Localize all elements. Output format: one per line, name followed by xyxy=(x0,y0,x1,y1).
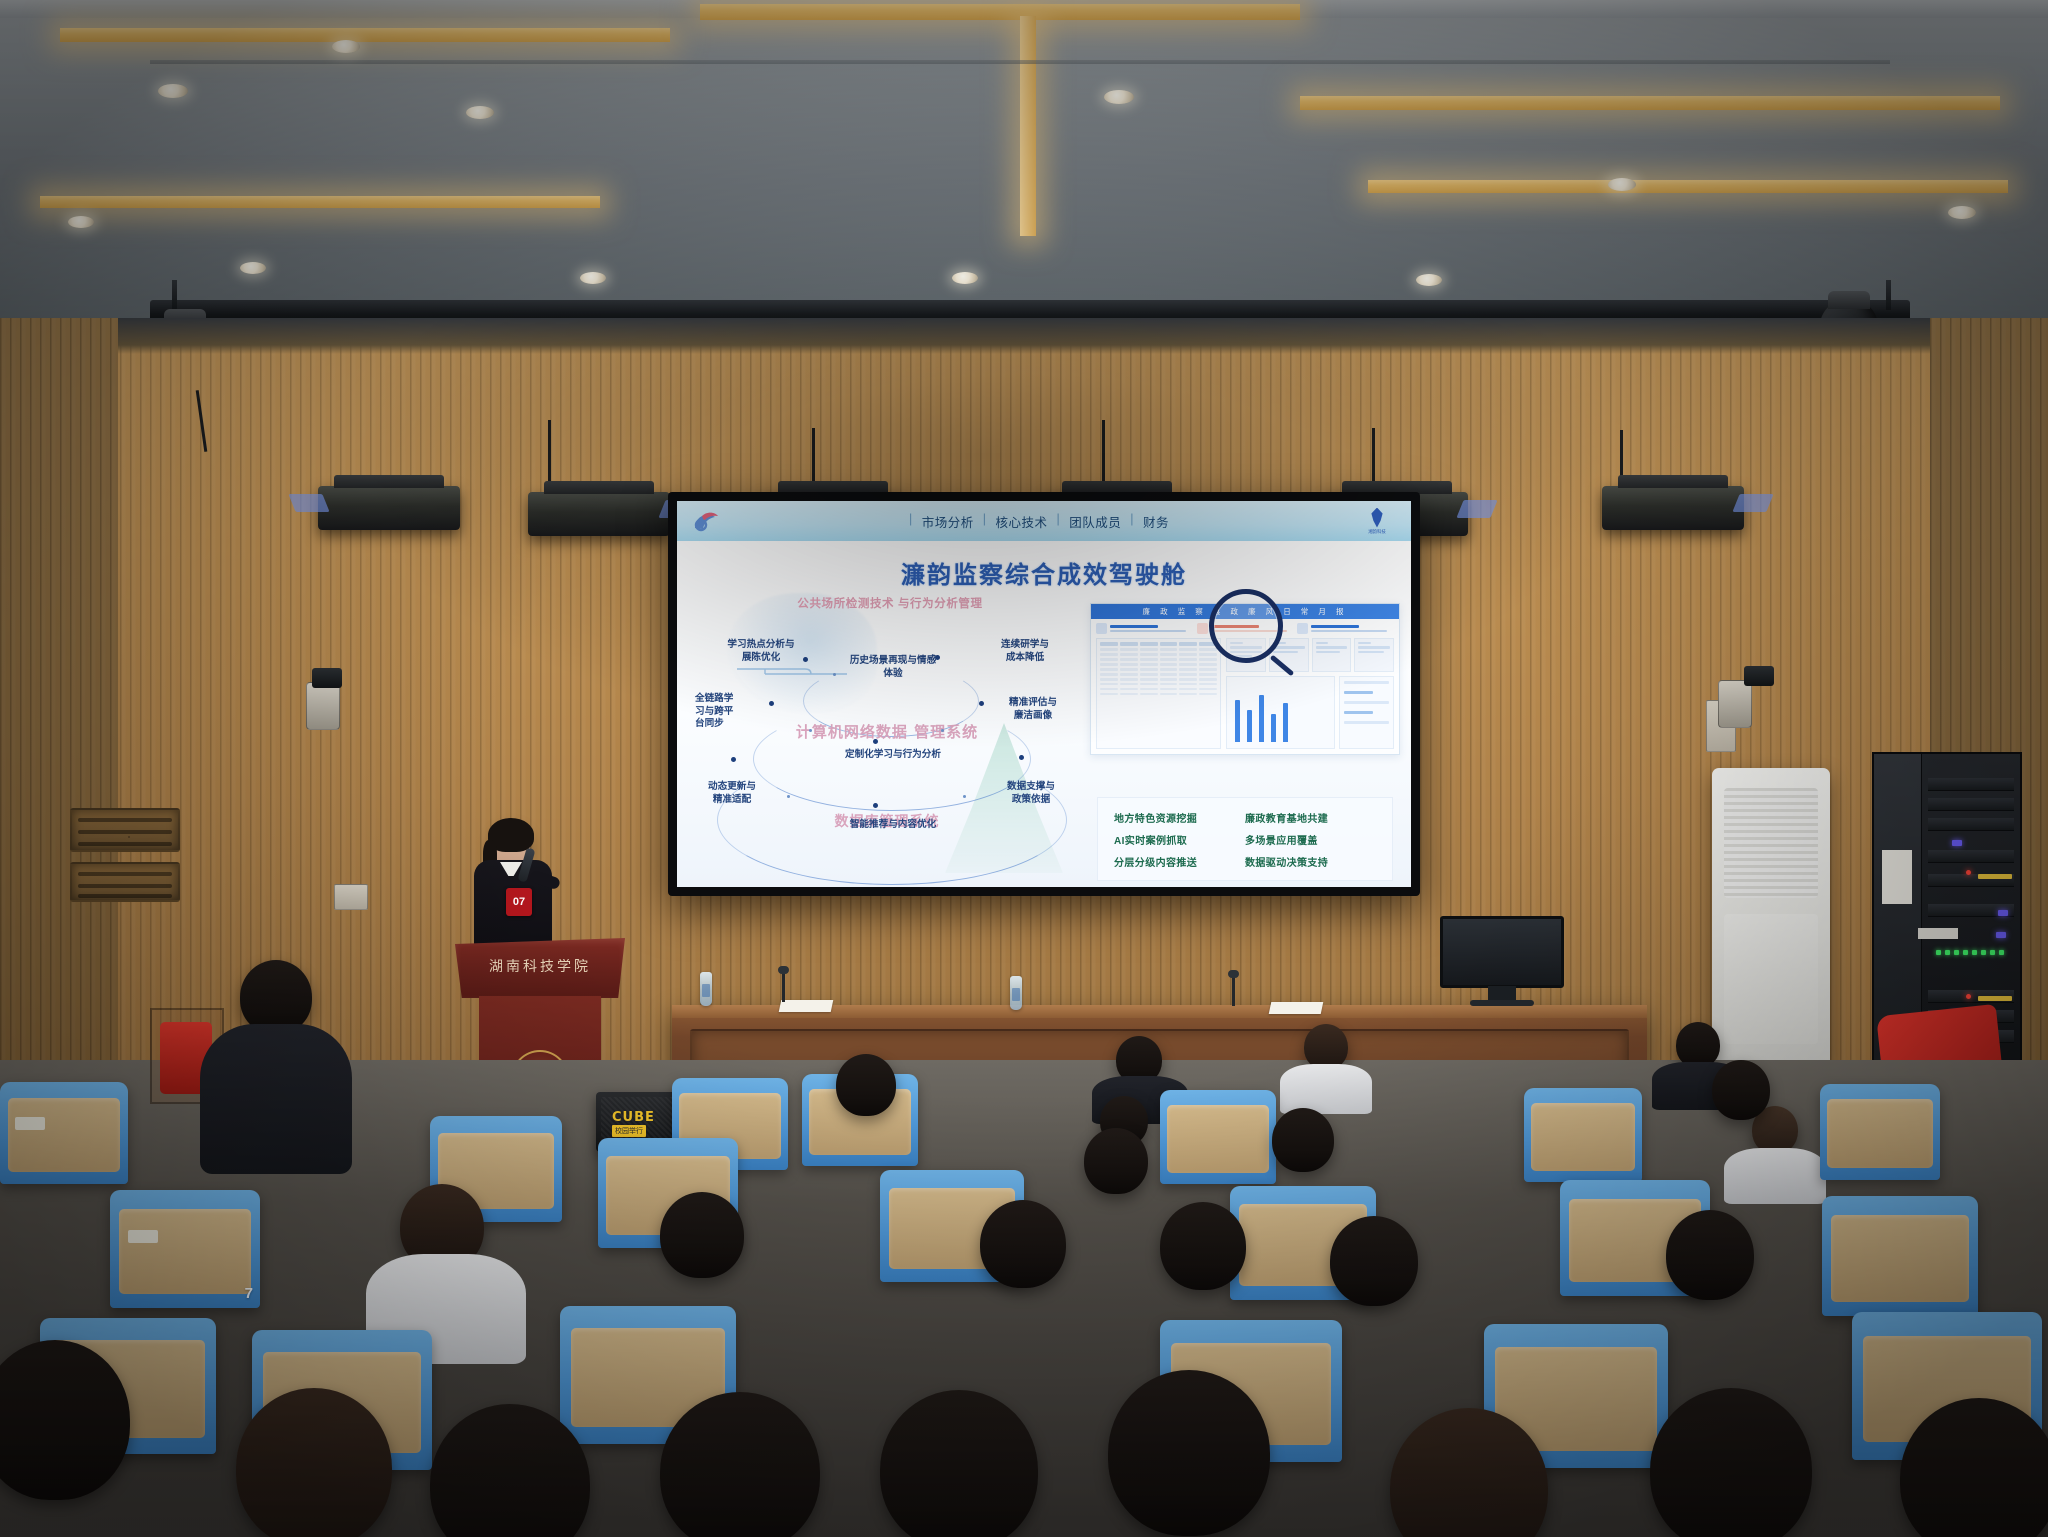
rack-status-led xyxy=(1952,840,1962,846)
audience-head xyxy=(1712,1060,1770,1120)
audience-head xyxy=(660,1192,744,1278)
slide-nav-items[interactable]: | 市场分析 | 核心技术 | 团队成员 | 财务 xyxy=(723,512,1355,531)
rack-status-led xyxy=(1966,870,1971,875)
wall-vent xyxy=(70,862,180,902)
document-sheet xyxy=(1269,1002,1324,1014)
wall-upper-trim xyxy=(0,318,2048,354)
mindmap-dot xyxy=(1019,755,1024,760)
audience-head xyxy=(1160,1202,1246,1290)
presenter-hair xyxy=(488,818,534,852)
rack-status-led xyxy=(1978,996,2012,1001)
lotus-icon xyxy=(1367,508,1387,528)
desk-monitor xyxy=(1440,916,1564,1004)
nav-item-market[interactable]: 市场分析 xyxy=(922,512,974,531)
slide-title: 濂韵监察综合成效驾驶舱 xyxy=(677,555,1411,590)
audience-head xyxy=(1084,1128,1148,1194)
audience-head xyxy=(1108,1370,1270,1536)
kpi-card xyxy=(1297,623,1394,634)
rack-status-led xyxy=(1978,874,2012,879)
audience-head xyxy=(836,1054,896,1116)
kpi-card xyxy=(1096,623,1193,634)
bullet-item: AI实时案例抓取 xyxy=(1114,832,1245,847)
bullet-item: 分层分级内容推送 xyxy=(1114,854,1245,869)
rack-status-led xyxy=(1996,932,2006,938)
water-bottle xyxy=(700,972,712,1006)
bullet-item: 数据驱动决策支持 xyxy=(1245,854,1376,869)
slide-body: 濂韵监察综合成效驾驶舱 公共场所检测技术 与行为分析管理 计算机网络数据 管理系… xyxy=(677,541,1411,887)
downlight xyxy=(580,272,606,284)
truss-drop xyxy=(172,280,177,310)
mindmap-node-8: 数据支撑与 政策依据 xyxy=(991,781,1071,806)
truss-drop xyxy=(1886,280,1891,310)
mindmap-node-4: 全链路学 习与跨平 台同步 xyxy=(695,693,753,731)
desk-microphone xyxy=(1232,976,1235,1006)
downlight xyxy=(1608,178,1636,191)
audience-head xyxy=(240,960,312,1034)
monitor-base xyxy=(1470,1000,1534,1006)
nav-item-tech[interactable]: 核心技术 xyxy=(995,512,1047,531)
cove-light-1 xyxy=(60,28,670,42)
contestant-number-badge: 07 xyxy=(506,888,532,916)
rack-led-array xyxy=(1936,950,2004,955)
wall-plate xyxy=(334,884,368,910)
amp-subtitle-label: 校园举行 xyxy=(612,1125,646,1137)
dashboard-table xyxy=(1096,638,1221,749)
lectern-institution-name: 湖南科技学院 xyxy=(465,956,615,976)
cove-light-4 xyxy=(1368,180,2008,193)
downlight xyxy=(466,106,494,119)
mindmap-dot xyxy=(803,657,808,662)
slide-surface: | 市场分析 | 核心技术 | 团队成员 | 财务 湘韵科技 xyxy=(677,501,1411,887)
wall-panel-left xyxy=(0,318,118,1078)
nav-item-finance[interactable]: 财务 xyxy=(1143,512,1169,531)
monitor-screen xyxy=(1440,916,1564,988)
dashboard-side-stats xyxy=(1339,676,1394,749)
wall-speaker xyxy=(1718,680,1752,728)
mind-map: 公共场所检测技术 与行为分析管理 计算机网络数据 管理系统 数据库管理系统 学习… xyxy=(691,597,1083,871)
auditorium-seat[interactable] xyxy=(1822,1196,1978,1316)
slide-bullet-list: 地方特色资源挖掘 廉政教育基地共建 AI实时案例抓取 多场景应用覆盖 分层分级内… xyxy=(1097,797,1393,881)
kpi-icon xyxy=(1096,623,1107,634)
auditorium-seat[interactable] xyxy=(0,1082,128,1184)
kpi-icon xyxy=(1297,623,1308,634)
bullet-item: 多场景应用覆盖 xyxy=(1245,832,1376,847)
audience-shoulders xyxy=(1280,1064,1372,1114)
auditorium-seat[interactable] xyxy=(1160,1090,1276,1184)
mindmap-node-7: 动态更新与 精准适配 xyxy=(693,781,771,806)
slide-navigation-bar: | 市场分析 | 核心技术 | 团队成员 | 财务 湘韵科技 xyxy=(677,501,1411,541)
mindmap-dot xyxy=(873,739,878,744)
seat-number: 7 xyxy=(245,1285,253,1302)
cove-light-2 xyxy=(700,4,1300,20)
downlight xyxy=(158,84,188,98)
wall-vent xyxy=(70,808,180,852)
desk-microphone xyxy=(782,972,785,1002)
hanging-light-box xyxy=(528,492,670,536)
auditorium-seat[interactable] xyxy=(1820,1084,1940,1180)
audience-head xyxy=(236,1388,392,1537)
mindmap-node-3: 连续研学与 成本降低 xyxy=(983,639,1067,664)
dashboard-card xyxy=(1312,638,1352,672)
bullet-item: 地方特色资源挖掘 xyxy=(1114,810,1245,825)
nav-separator: | xyxy=(983,512,987,531)
kpi-icon xyxy=(1197,623,1208,634)
bullet-item: 廉政教育基地共建 xyxy=(1245,810,1376,825)
mindmap-dot xyxy=(731,757,736,762)
wall-speaker xyxy=(306,682,340,730)
rack-status-led xyxy=(1966,994,1971,999)
nav-separator: | xyxy=(1057,512,1061,531)
audience-shoulders xyxy=(1724,1148,1826,1204)
cove-light-3 xyxy=(1300,96,2000,110)
mindmap-header: 公共场所检测技术 与行为分析管理 xyxy=(775,597,1005,612)
downlight xyxy=(952,272,978,284)
auditorium-seat[interactable]: 7 xyxy=(110,1190,260,1308)
slide-brand-name: 湘韵科技 xyxy=(1368,529,1386,535)
mindmap-dot xyxy=(769,701,774,706)
mindmap-dot xyxy=(979,701,984,706)
dashboard-card xyxy=(1354,638,1394,672)
hanging-light-box xyxy=(1602,486,1744,530)
downlight xyxy=(1104,90,1134,104)
cove-light-5 xyxy=(40,196,600,208)
mindmap-dot xyxy=(935,655,940,660)
presenter: 07 xyxy=(470,822,556,952)
magnifier-icon xyxy=(1209,589,1283,663)
hanging-light-box xyxy=(318,486,460,530)
air-conditioner xyxy=(1712,768,1830,1068)
rack-status-led xyxy=(1998,910,2008,916)
mindmap-node-5: 精准评估与 廉洁画像 xyxy=(993,697,1073,722)
ceiling-camera xyxy=(1744,666,1774,686)
downlight xyxy=(68,216,94,228)
audience-head xyxy=(980,1200,1066,1288)
mindmap-node-9: 智能推荐与内容优化 xyxy=(809,819,977,832)
document-sheet xyxy=(779,1000,834,1012)
amp-brand-label: CUBE xyxy=(612,1110,655,1125)
dashboard-bar-chart xyxy=(1226,676,1334,749)
downlight xyxy=(1416,274,1442,286)
mindmap-node-2: 历史场景再现与情感 体验 xyxy=(813,655,973,680)
audience-shoulders xyxy=(200,1024,352,1174)
ac-panel xyxy=(1724,914,1818,1044)
audience-head xyxy=(1666,1210,1754,1300)
mindmap-node-1: 学习热点分析与 展陈优化 xyxy=(719,639,803,664)
auditorium-seat[interactable] xyxy=(1524,1088,1642,1182)
ceiling-camera xyxy=(312,668,342,688)
downlight xyxy=(240,262,266,274)
audience-head xyxy=(880,1390,1038,1537)
ac-grille xyxy=(1724,788,1818,898)
downlight xyxy=(332,40,360,53)
nav-separator: | xyxy=(1130,512,1134,531)
nav-separator: | xyxy=(909,512,913,531)
ceiling-seam xyxy=(150,60,1890,64)
mindmap-node-6: 定制化学习与行为分析 xyxy=(809,749,977,762)
nav-item-team[interactable]: 团队成员 xyxy=(1069,512,1121,531)
slide-brand-logo: 湘韵科技 xyxy=(1355,504,1399,538)
wall-plate xyxy=(128,836,130,838)
cove-light-vertical xyxy=(1020,16,1036,236)
audience-head xyxy=(1330,1216,1418,1306)
rack-label xyxy=(1918,928,1958,939)
ceiling xyxy=(0,0,2048,330)
slide-logo-icon xyxy=(689,508,723,534)
presentation-screen: | 市场分析 | 核心技术 | 团队成员 | 财务 湘韵科技 xyxy=(668,492,1420,896)
mindmap-dot xyxy=(873,803,878,808)
water-bottle xyxy=(1010,976,1022,1010)
audience-head xyxy=(1272,1108,1334,1172)
rack-label xyxy=(1882,850,1912,904)
lecture-hall-scene: | 市场分析 | 核心技术 | 团队成员 | 财务 湘韵科技 xyxy=(0,0,2048,1537)
downlight xyxy=(1948,206,1976,219)
